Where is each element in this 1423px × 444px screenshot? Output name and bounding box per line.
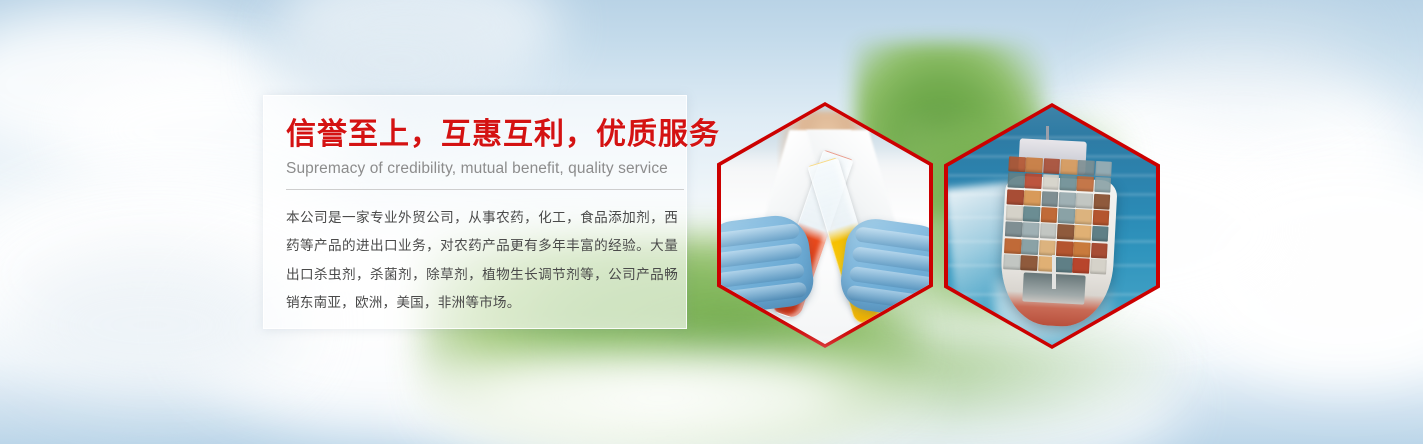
shipping-container bbox=[1093, 194, 1110, 210]
shipping-container bbox=[1057, 225, 1074, 241]
page-title: 信誉至上，互惠互利，优质服务 bbox=[286, 118, 662, 151]
shipping-container bbox=[1042, 175, 1059, 191]
shipping-container bbox=[1073, 242, 1090, 258]
shipping-container bbox=[1076, 193, 1093, 209]
shipping-container bbox=[1022, 223, 1039, 239]
company-description: 本公司是一家专业外贸公司，从事农药，化工，食品添加剂，西药等产品的进出口业务，对… bbox=[286, 204, 678, 317]
shipping-container bbox=[1074, 226, 1091, 242]
shipping-container bbox=[1058, 208, 1075, 224]
shipping-container bbox=[1022, 239, 1039, 255]
shipping-container bbox=[1043, 159, 1060, 175]
shipping-container bbox=[1059, 192, 1076, 208]
shipping-container bbox=[1092, 226, 1109, 242]
shipping-container bbox=[1025, 174, 1042, 190]
foreground-cloud bbox=[380, 350, 940, 444]
shipping-container bbox=[1005, 222, 1022, 238]
subtitle: Supremacy of credibility, mutual benefit… bbox=[286, 160, 662, 178]
shipping-container bbox=[1060, 159, 1077, 175]
shipping-container bbox=[1073, 258, 1090, 274]
hero-banner: 信誉至上，互惠互利，优质服务 Supremacy of credibility,… bbox=[0, 0, 1423, 444]
shipping-container bbox=[1006, 206, 1023, 222]
shipping-containers bbox=[1003, 157, 1113, 277]
divider bbox=[286, 189, 684, 190]
shipping-container bbox=[1040, 224, 1057, 240]
shipping-container bbox=[1056, 241, 1073, 257]
shipping-container bbox=[1092, 210, 1109, 226]
cloud-shape bbox=[1120, 0, 1370, 110]
shipping-container bbox=[1024, 190, 1041, 206]
shipping-container bbox=[1090, 259, 1107, 275]
shipping-container bbox=[1078, 160, 1095, 176]
shipping-container bbox=[1007, 189, 1024, 205]
shipping-container bbox=[1009, 157, 1026, 173]
shipping-container bbox=[1041, 207, 1058, 223]
shipping-container bbox=[1077, 177, 1094, 193]
cloud-shape bbox=[0, 250, 300, 400]
shipping-container bbox=[1041, 191, 1058, 207]
shipping-container bbox=[1008, 173, 1025, 189]
shipping-container bbox=[1095, 161, 1112, 177]
shipping-container bbox=[1026, 158, 1043, 174]
shipping-container bbox=[1075, 209, 1092, 225]
shipping-container bbox=[1039, 240, 1056, 256]
ship-crane bbox=[1052, 255, 1056, 289]
shipping-container bbox=[1091, 243, 1108, 259]
text-panel: 信誉至上，互惠互利，优质服务 Supremacy of credibility,… bbox=[263, 95, 687, 329]
shipping-container bbox=[1021, 255, 1038, 271]
shipping-container bbox=[1060, 176, 1077, 192]
shipping-container bbox=[1055, 257, 1072, 273]
shipping-container bbox=[1004, 238, 1021, 254]
shipping-container bbox=[1023, 207, 1040, 223]
shipping-container bbox=[1094, 178, 1111, 194]
shipping-container bbox=[1003, 254, 1020, 270]
